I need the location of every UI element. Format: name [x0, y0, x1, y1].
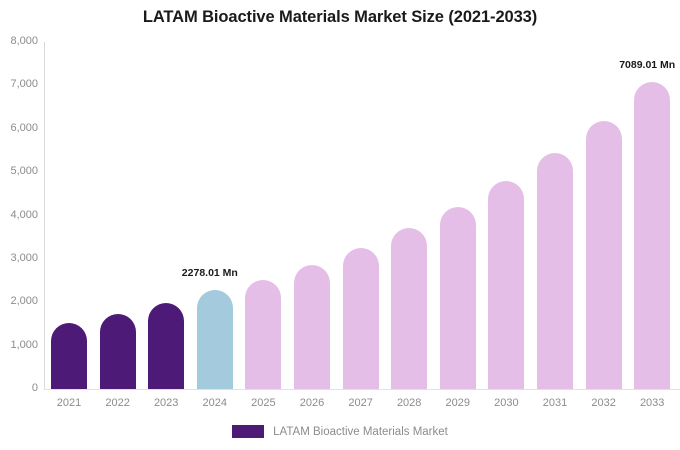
bar-2028[interactable]	[391, 228, 427, 389]
x-axis-tick-2025: 2025	[239, 397, 287, 409]
plot-area	[44, 42, 680, 389]
bar-2026[interactable]	[294, 265, 330, 389]
x-axis-tick-2029: 2029	[434, 397, 482, 409]
x-axis-tick-2028: 2028	[385, 397, 433, 409]
x-axis-tick-2021: 2021	[45, 397, 93, 409]
y-axis-tick: 5,000	[0, 165, 38, 177]
y-axis-tick: 1,000	[0, 339, 38, 351]
bar-2033[interactable]	[634, 82, 670, 389]
y-axis-tick: 0	[0, 382, 38, 394]
x-axis-tick-2031: 2031	[531, 397, 579, 409]
y-axis-tick: 4,000	[0, 209, 38, 221]
x-axis-tick-2026: 2026	[288, 397, 336, 409]
bar-2025[interactable]	[245, 280, 281, 389]
bar-2022[interactable]	[100, 314, 136, 389]
y-axis-tick: 2,000	[0, 295, 38, 307]
x-axis-tick-2023: 2023	[142, 397, 190, 409]
chart-legend: LATAM Bioactive Materials Market	[0, 425, 680, 438]
bar-2023[interactable]	[148, 303, 184, 389]
bar-value-label-2033: 7089.01 Mn	[619, 59, 675, 71]
bar-value-label-2024: 2278.01 Mn	[182, 267, 238, 279]
bar-2030[interactable]	[488, 181, 524, 389]
x-axis-tick-2033: 2033	[628, 397, 676, 409]
x-axis-tick-2022: 2022	[94, 397, 142, 409]
chart-title: LATAM Bioactive Materials Market Size (2…	[0, 8, 680, 27]
y-axis-tick: 3,000	[0, 252, 38, 264]
chart-container: LATAM Bioactive Materials Market Size (2…	[0, 0, 680, 450]
y-axis-tick: 7,000	[0, 78, 38, 90]
x-axis-line	[44, 389, 680, 390]
x-axis-tick-2027: 2027	[337, 397, 385, 409]
bar-2021[interactable]	[51, 323, 87, 389]
bar-2027[interactable]	[343, 248, 379, 389]
legend-swatch-icon	[232, 425, 264, 438]
legend-label: LATAM Bioactive Materials Market	[273, 426, 448, 438]
bar-2024[interactable]	[197, 290, 233, 389]
bar-2031[interactable]	[537, 153, 573, 389]
x-axis-tick-2024: 2024	[191, 397, 239, 409]
legend-item[interactable]: LATAM Bioactive Materials Market	[232, 425, 448, 438]
bar-2032[interactable]	[586, 121, 622, 389]
y-axis-tick: 8,000	[0, 35, 38, 47]
x-axis-tick-2030: 2030	[482, 397, 530, 409]
bar-2029[interactable]	[440, 207, 476, 389]
x-axis-tick-2032: 2032	[580, 397, 628, 409]
y-axis-tick: 6,000	[0, 122, 38, 134]
